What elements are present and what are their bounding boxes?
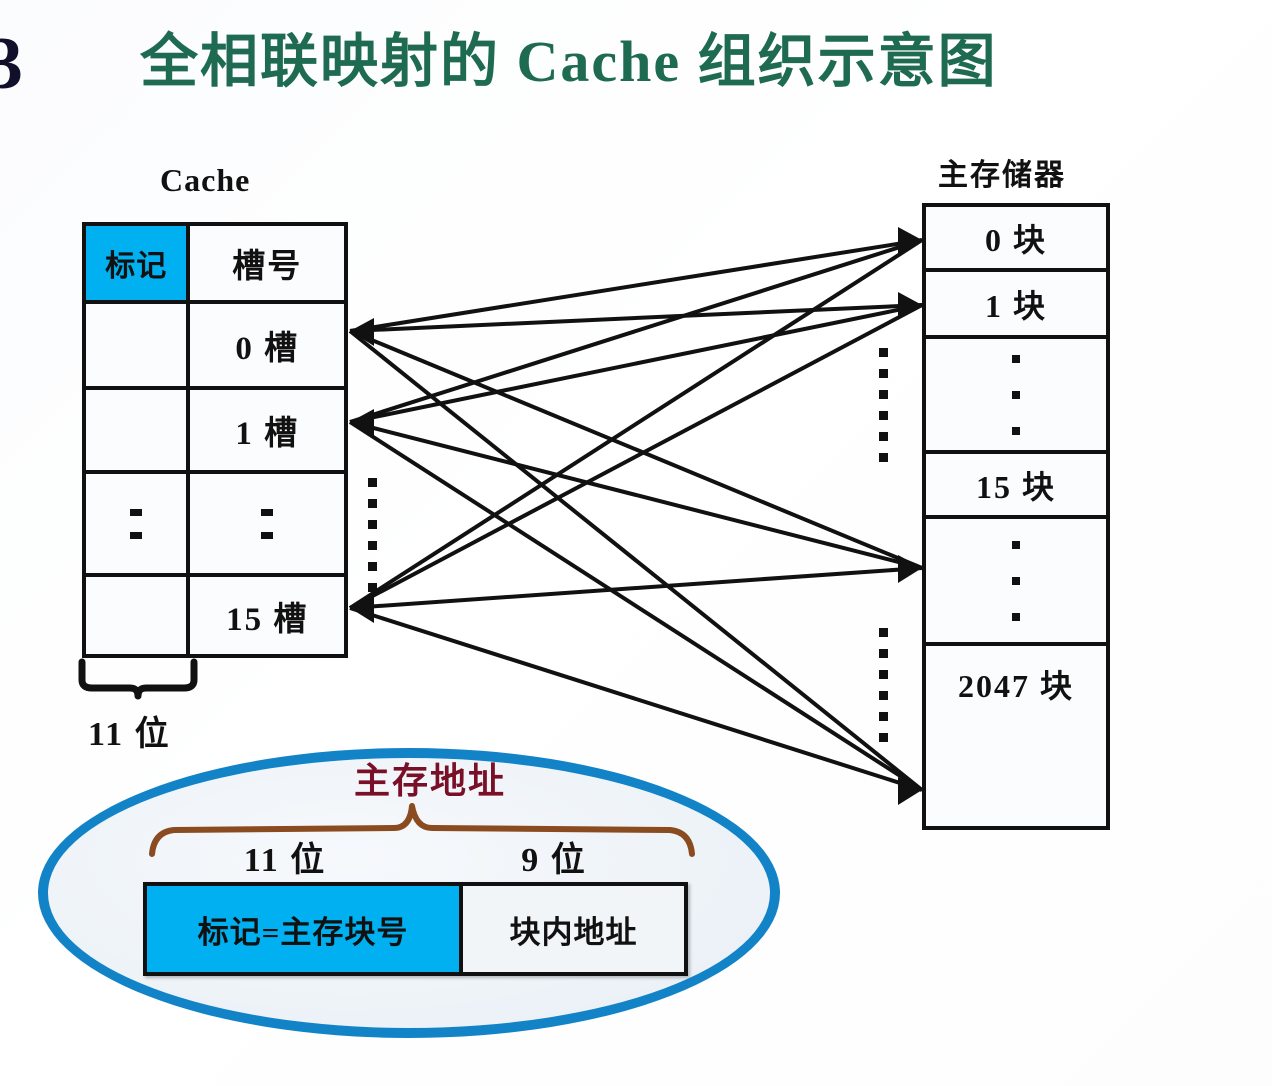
cache-caption: Cache: [160, 162, 250, 199]
cache-slot-cell-ellipsis: [190, 474, 344, 573]
memory-link-ellipsis-icon-2: [879, 628, 888, 742]
tag-width-brace-icon: [78, 658, 198, 710]
table-row: 2047 块: [926, 646, 1106, 721]
address-title: 主存地址: [330, 752, 530, 804]
memory-block-0: 0 块: [926, 207, 1106, 268]
cache-tag-cell-ellipsis: [86, 474, 190, 573]
vertical-ellipsis-icon: [261, 509, 273, 539]
address-tag-field: 标记=主存块号: [147, 886, 463, 972]
offset-bits-label: 9 位: [506, 832, 602, 881]
memory-block-2047: 2047 块: [926, 646, 1106, 721]
table-row: 1 槽: [86, 390, 344, 474]
memory-block-ellipsis-1: [926, 339, 1106, 450]
cache-slot-cell-1: 1 槽: [190, 390, 344, 470]
cache-slot-cell-3: 15 槽: [190, 577, 344, 654]
table-row: 标记 槽号: [86, 226, 344, 304]
table-row: 15 块: [926, 454, 1106, 519]
address-brace-icon: [148, 798, 696, 858]
tag-width-label: 11 位: [88, 706, 171, 755]
cache-table: 标记 槽号 0 槽 1 槽 15 槽: [82, 222, 348, 658]
tag-bits-label: 11 位: [232, 832, 338, 881]
main-memory-table: 0 块 1 块 15 块 2047 块: [922, 203, 1110, 830]
table-row: [86, 474, 344, 577]
address-offset-field: 块内地址: [463, 886, 684, 972]
memory-caption: 主存储器: [938, 150, 1066, 194]
table-row: 15 槽: [86, 577, 344, 654]
memory-block-15: 15 块: [926, 454, 1106, 515]
table-row: 0 槽: [86, 304, 344, 390]
memory-link-ellipsis-icon-1: [879, 348, 888, 462]
address-format-bar: 标记=主存块号 块内地址: [143, 882, 688, 976]
memory-block-ellipsis-2: [926, 519, 1106, 642]
vertical-ellipsis-icon: [1012, 355, 1020, 435]
cache-header-tag: 标记: [86, 226, 190, 300]
memory-block-1: 1 块: [926, 272, 1106, 335]
cache-tag-cell-1: [86, 390, 190, 470]
table-row: [926, 339, 1106, 454]
table-row: [926, 519, 1106, 646]
cache-tag-cell-0: [86, 304, 190, 386]
vertical-ellipsis-icon: [130, 509, 142, 539]
cache-rows-ellipsis-icon: [368, 478, 377, 592]
cache-header-slot: 槽号: [190, 226, 344, 300]
table-row: 0 块: [926, 207, 1106, 272]
vertical-ellipsis-icon: [1012, 541, 1020, 621]
cache-tag-cell-3: [86, 577, 190, 654]
cache-slot-cell-0: 0 槽: [190, 304, 344, 386]
table-row: 1 块: [926, 272, 1106, 339]
